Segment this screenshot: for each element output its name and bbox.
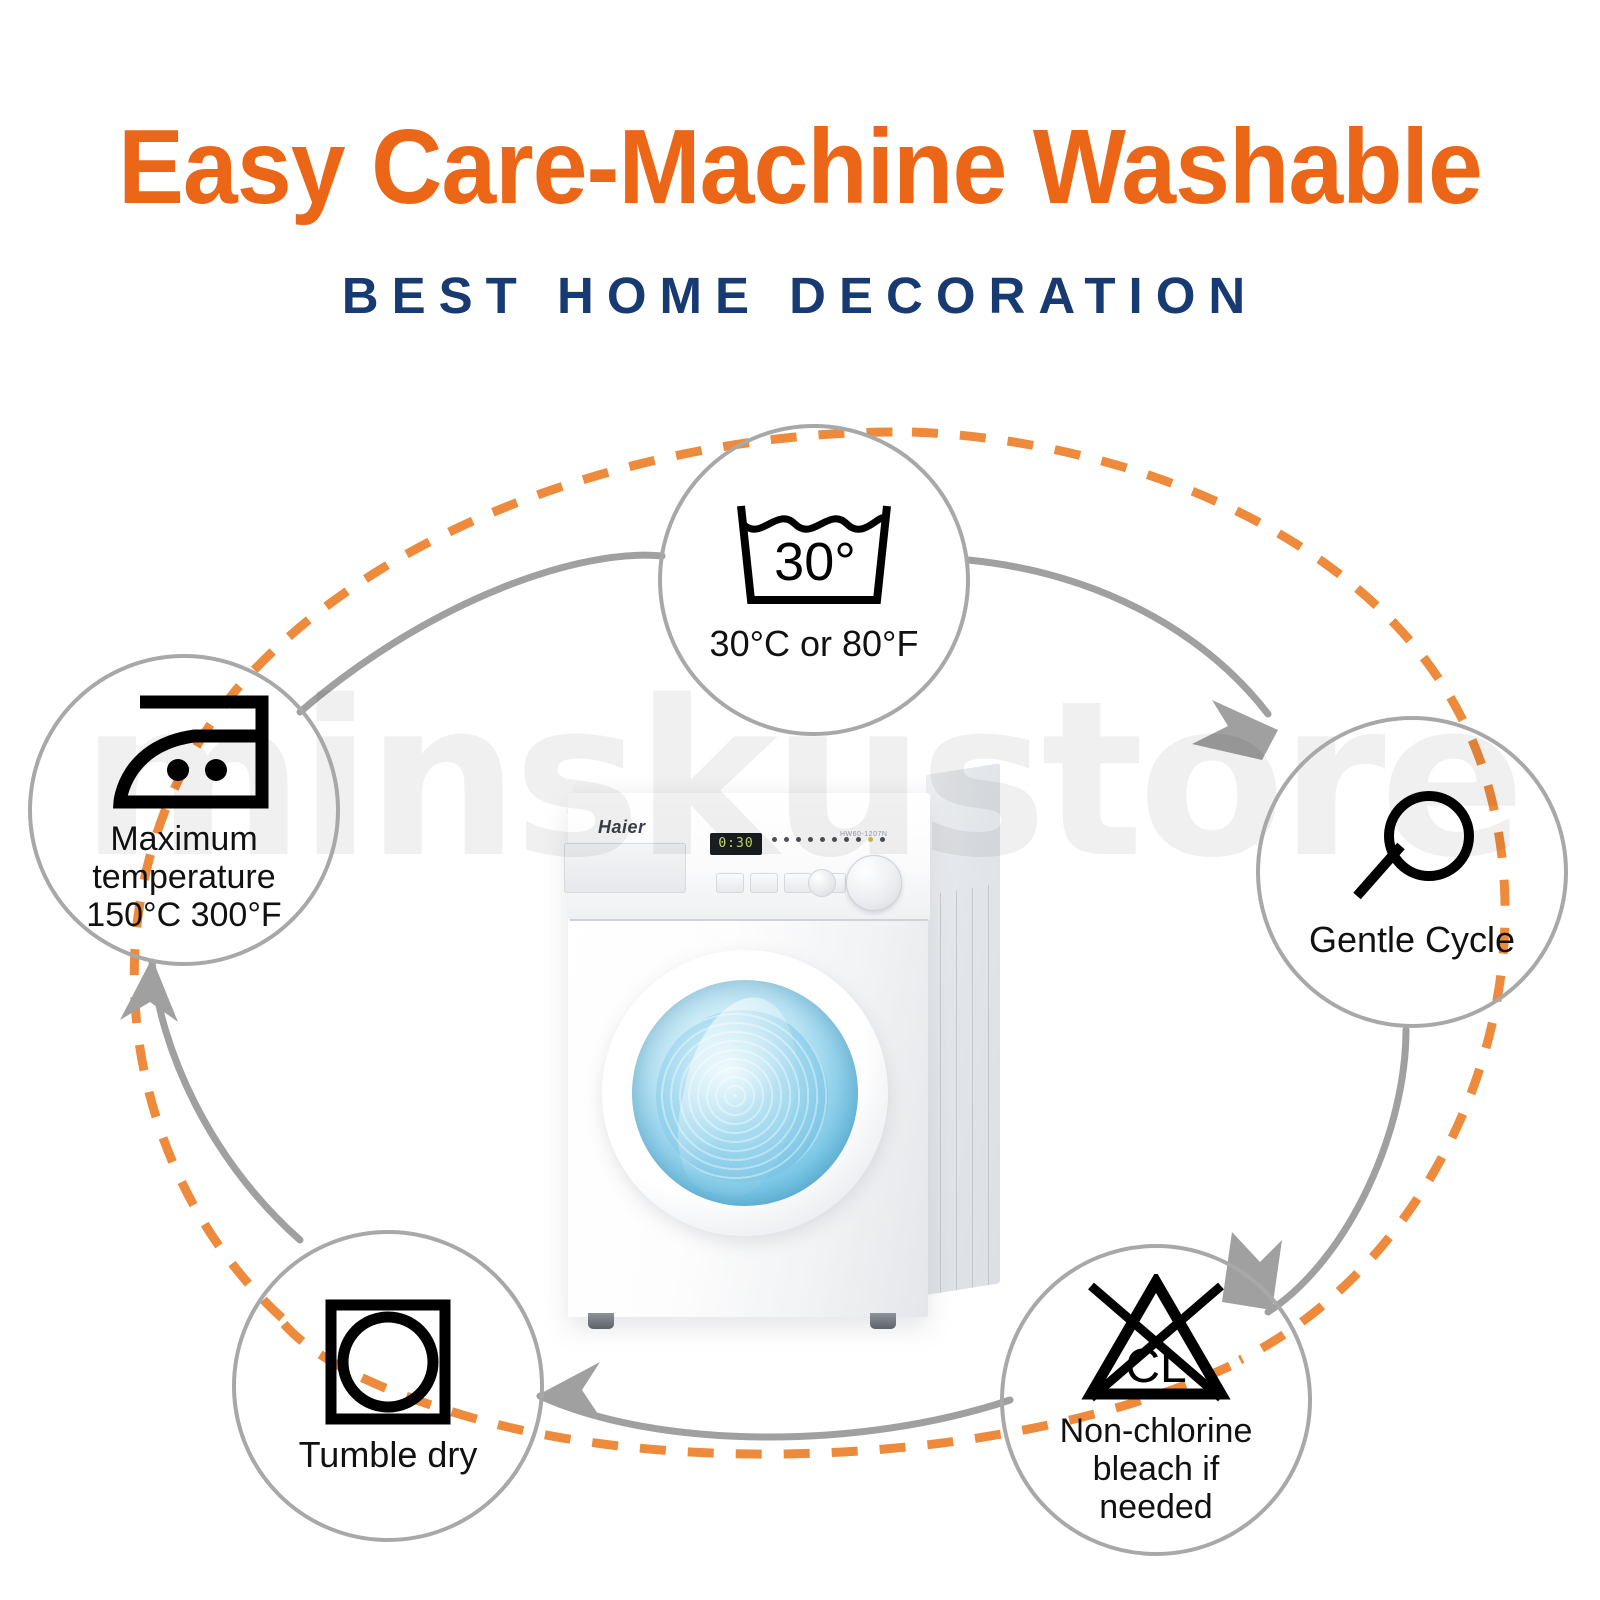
bleach-cl-label: CL xyxy=(1125,1340,1186,1393)
node-gentle-cycle[interactable]: Gentle Cycle xyxy=(1256,716,1568,1028)
node-wash-label: 30°C or 80°F xyxy=(710,624,919,664)
iron-two-dots-icon xyxy=(98,694,270,812)
wash-tub-30-icon: 30° xyxy=(729,496,899,616)
node-iron-max-temperature[interactable]: Maximum temperature 150°C 300°F xyxy=(28,654,340,966)
arc-tumble-to-iron xyxy=(152,962,300,1240)
gentle-cycle-icon xyxy=(1337,784,1487,912)
node-gentle-label: Gentle Cycle xyxy=(1309,920,1515,960)
wash-temp-value: 30° xyxy=(774,532,856,592)
node-non-chlorine-bleach[interactable]: CL Non-chlorine bleach if needed xyxy=(1000,1244,1312,1556)
node-iron-label: Maximum temperature 150°C 300°F xyxy=(86,820,281,934)
infographic-canvas: Easy Care-Machine Washable BEST HOME DEC… xyxy=(0,0,1600,1600)
arrowhead-to-tumble xyxy=(536,1362,602,1420)
non-chlorine-bleach-icon: CL xyxy=(1081,1274,1231,1404)
node-wash-30[interactable]: 30° 30°C or 80°F xyxy=(658,424,970,736)
node-tumble-dry[interactable]: Tumble dry xyxy=(232,1230,544,1542)
node-tumble-label: Tumble dry xyxy=(299,1435,478,1475)
arrowhead-to-iron xyxy=(120,958,178,1022)
node-bleach-label: Non-chlorine bleach if needed xyxy=(1060,1412,1253,1526)
arc-bleach-to-tumble xyxy=(540,1396,1010,1437)
tumble-dry-icon xyxy=(323,1297,453,1427)
